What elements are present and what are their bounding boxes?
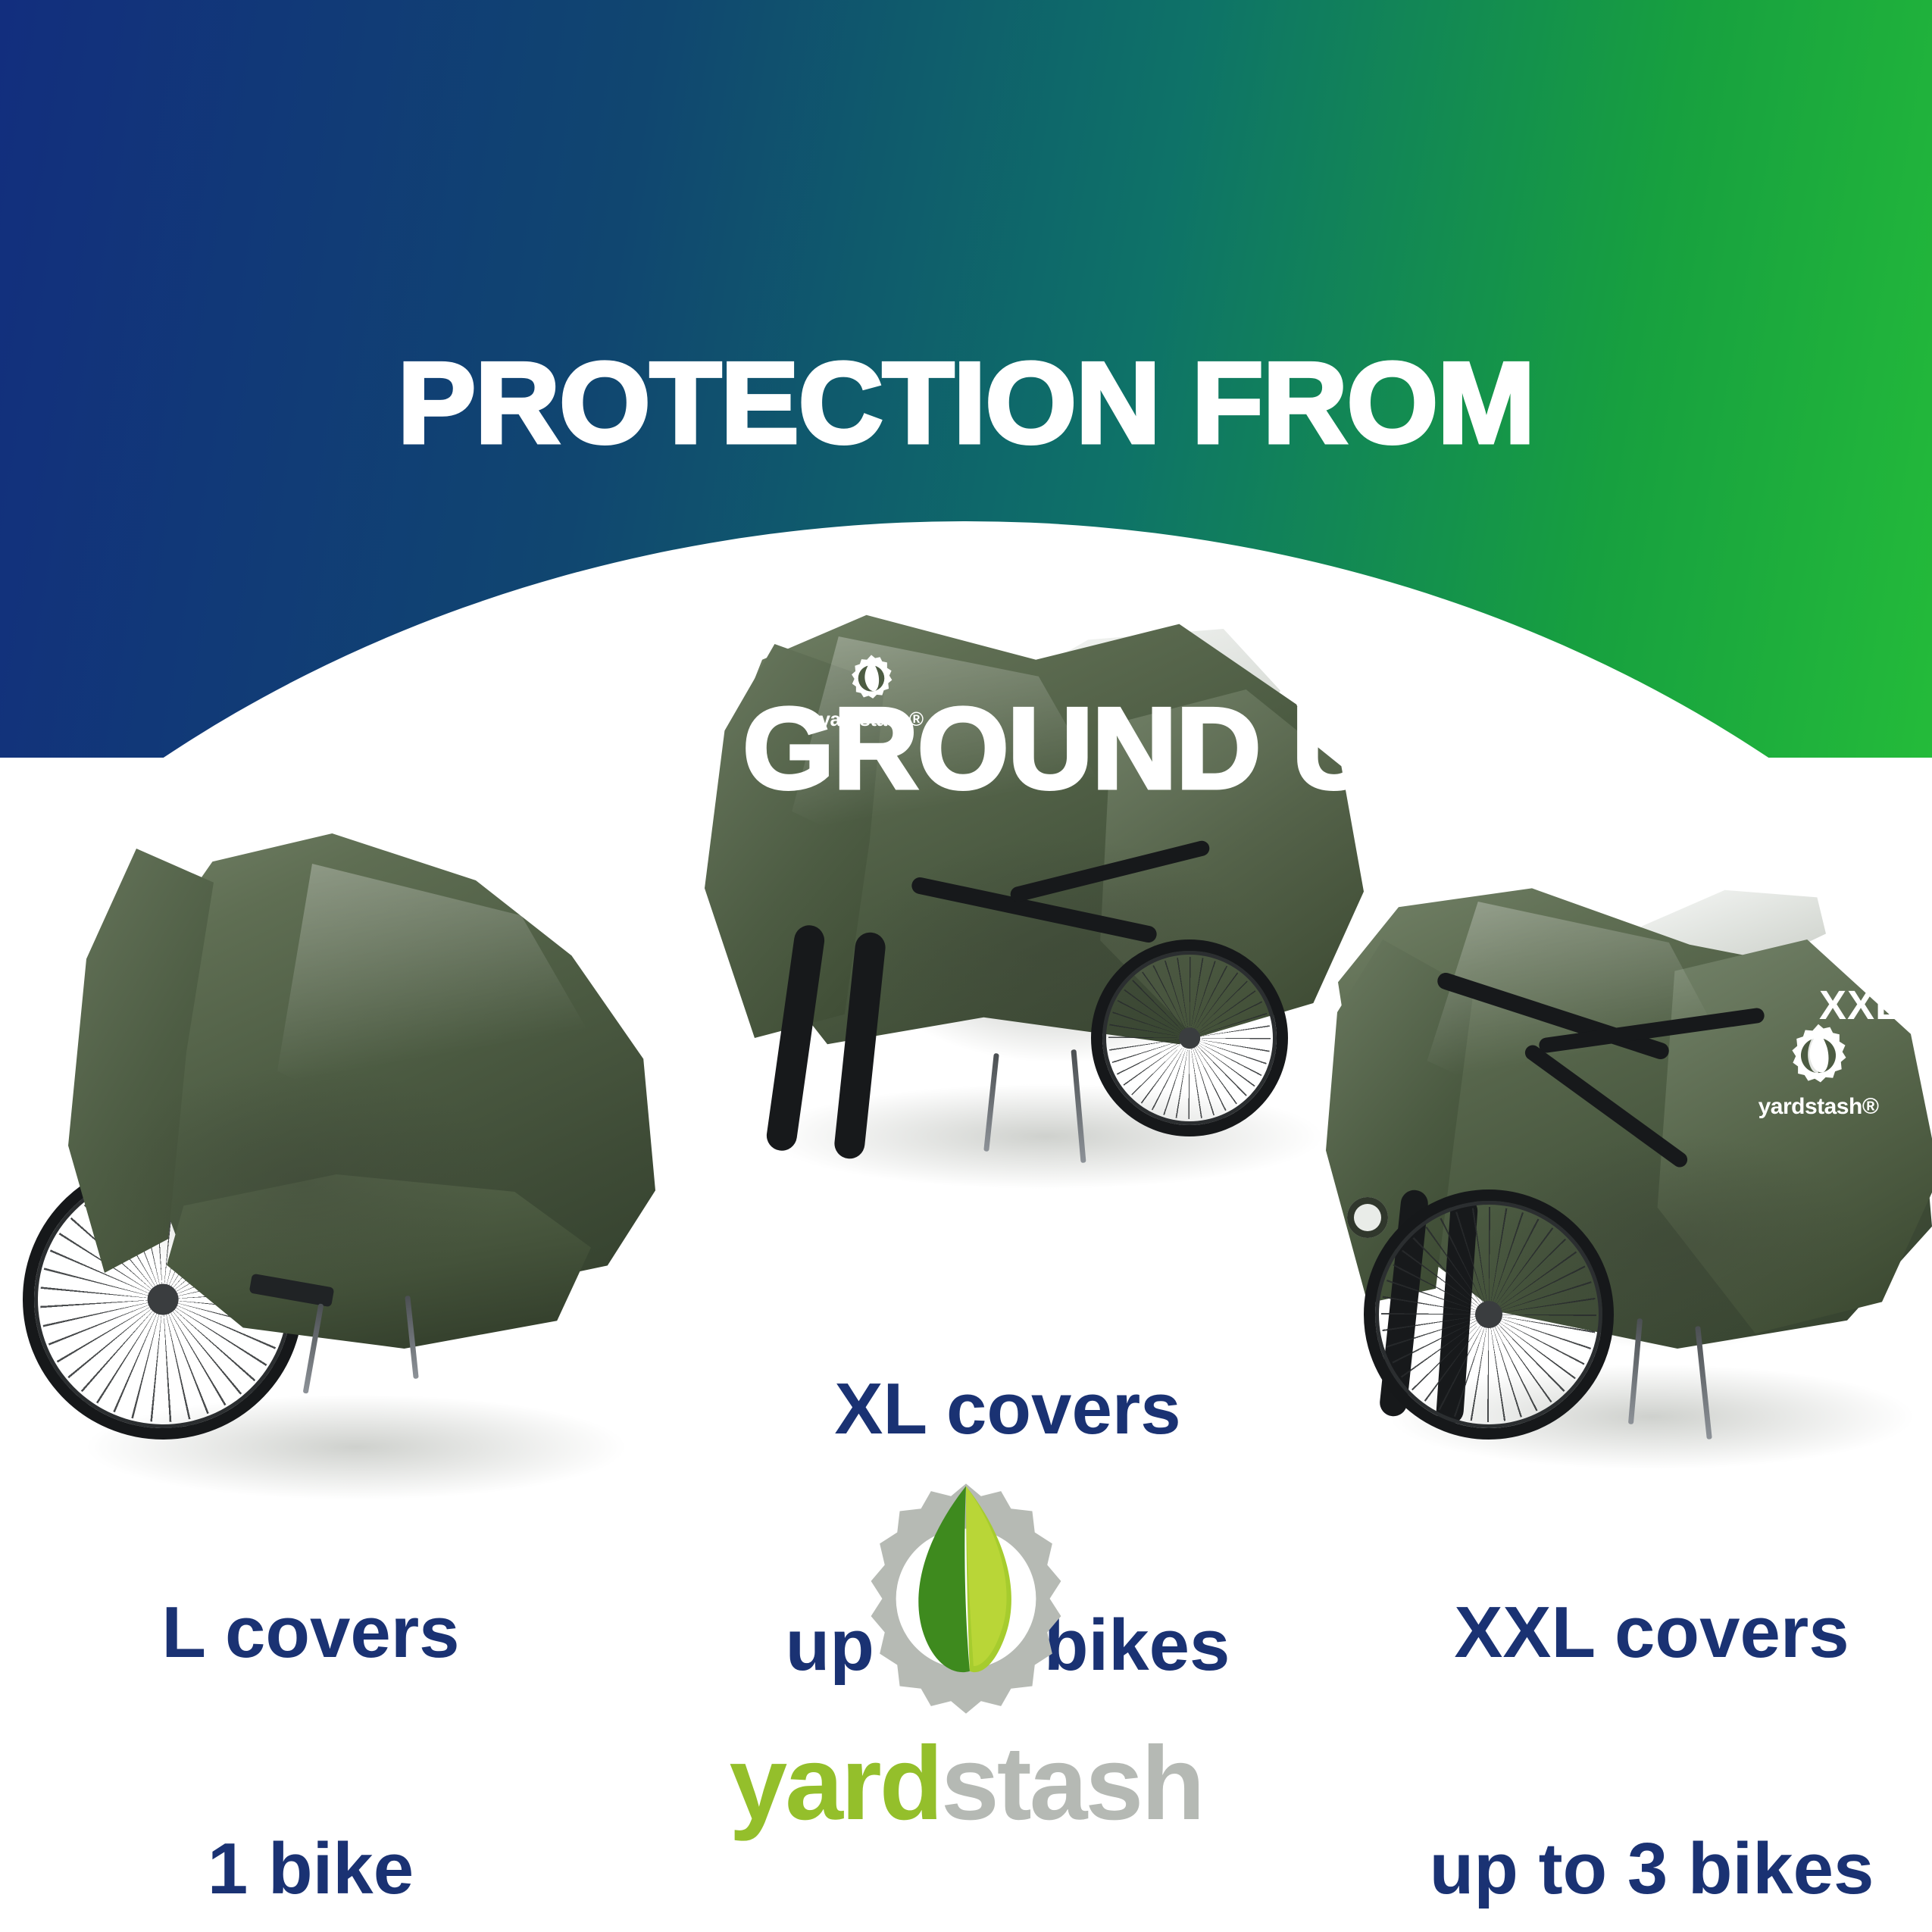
marketing-image-canvas: PROTECTION FROM THE GROUND UP [0, 0, 1932, 1932]
caption-size-xxl: XXL covers up to 3 bikes [1386, 1436, 1917, 1932]
caption-size-l: L covers 1 bike [45, 1436, 576, 1932]
caption-size-l-line-2: 1 bike [45, 1830, 576, 1909]
bike-wheel [1364, 1190, 1614, 1440]
headline-line-2: THE GROUND UP [0, 691, 1932, 806]
caption-size-xxl-line-1: XXL covers [1386, 1593, 1917, 1672]
page-headline: PROTECTION FROM THE GROUND UP [0, 115, 1932, 1036]
wheel-spokes [1381, 1207, 1596, 1422]
gear-leaf-logo-icon [841, 1474, 1091, 1724]
ground-stake [1071, 1049, 1086, 1163]
brand-wordmark: yardstash [663, 1727, 1269, 1840]
caption-size-xl-line-1: XL covers [739, 1370, 1277, 1449]
headline-line-1: PROTECTION FROM [0, 345, 1932, 461]
brand-logo: yardstash [663, 1474, 1269, 1840]
brand-wordmark-yard: yard [730, 1725, 942, 1842]
ground-stake [983, 1053, 999, 1152]
caption-size-l-line-1: L covers [45, 1593, 576, 1672]
cover-grommet [1347, 1197, 1388, 1238]
caption-size-xxl-line-2: up to 3 bikes [1386, 1830, 1917, 1909]
brand-wordmark-stash: stash [941, 1725, 1203, 1842]
